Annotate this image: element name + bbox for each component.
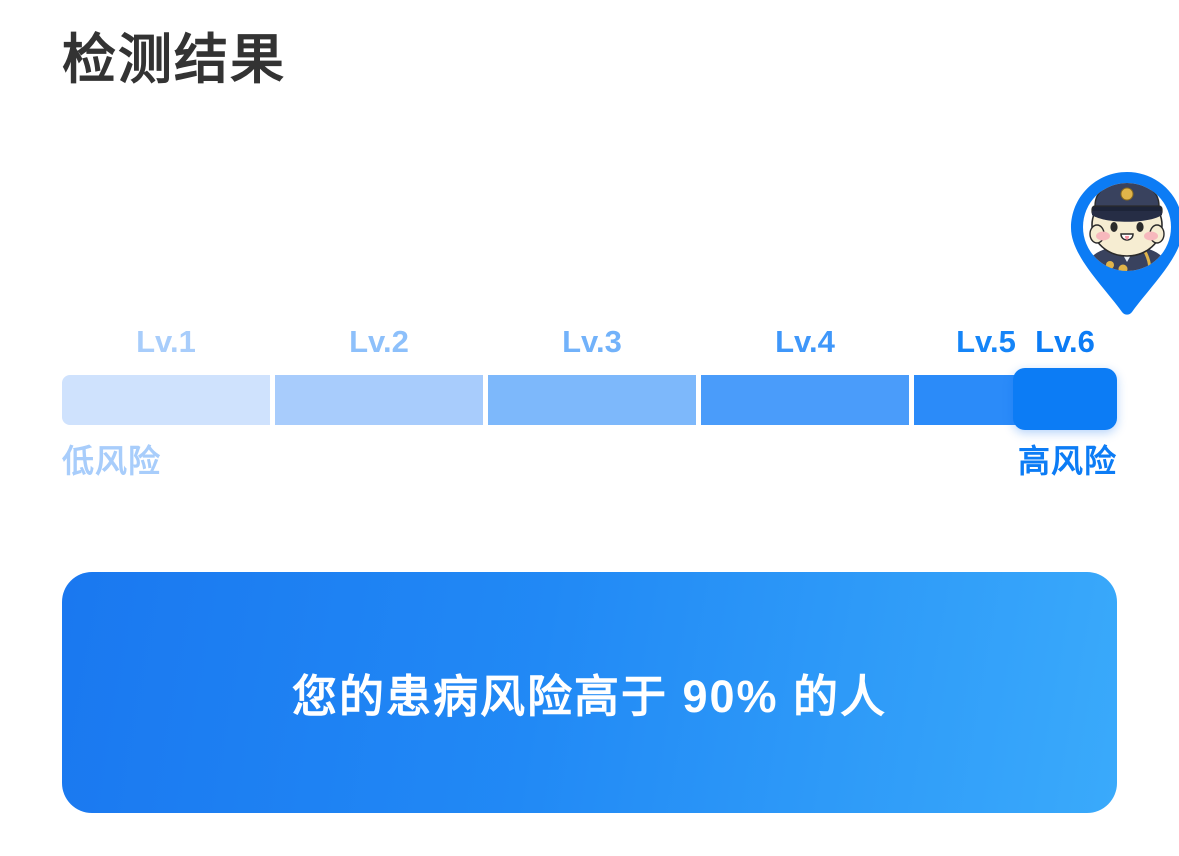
low-risk-label: 低风险 bbox=[62, 440, 161, 482]
risk-segment-2[interactable] bbox=[275, 375, 483, 425]
risk-segment-1[interactable] bbox=[62, 375, 270, 425]
conclusion-text: 您的患病风险高于 90% 的人 bbox=[292, 660, 887, 725]
risk-scale: Lv.1 Lv.2 Lv.3 Lv.4 Lv.5 Lv.6 低风险 高风险 bbox=[62, 160, 1117, 480]
level-labels: Lv.1 Lv.2 Lv.3 Lv.4 Lv.5 Lv.6 bbox=[62, 320, 1117, 364]
risk-segment-3[interactable] bbox=[488, 375, 696, 425]
risk-level-marker bbox=[1065, 170, 1179, 318]
conclusion-banner: 您的患病风险高于 90% 的人 bbox=[62, 572, 1117, 813]
level-label-3: Lv.3 bbox=[488, 320, 696, 364]
level-label-2: Lv.2 bbox=[275, 320, 483, 364]
risk-segment-6-active[interactable] bbox=[1013, 368, 1117, 430]
level-label-1: Lv.1 bbox=[62, 320, 270, 364]
page-title: 检测结果 bbox=[62, 28, 286, 93]
risk-segment-4[interactable] bbox=[701, 375, 909, 425]
risk-level-bar bbox=[62, 375, 1117, 435]
level-label-4: Lv.4 bbox=[701, 320, 909, 364]
high-risk-label: 高风险 bbox=[1018, 440, 1117, 482]
level-label-6: Lv.6 bbox=[1013, 320, 1117, 364]
